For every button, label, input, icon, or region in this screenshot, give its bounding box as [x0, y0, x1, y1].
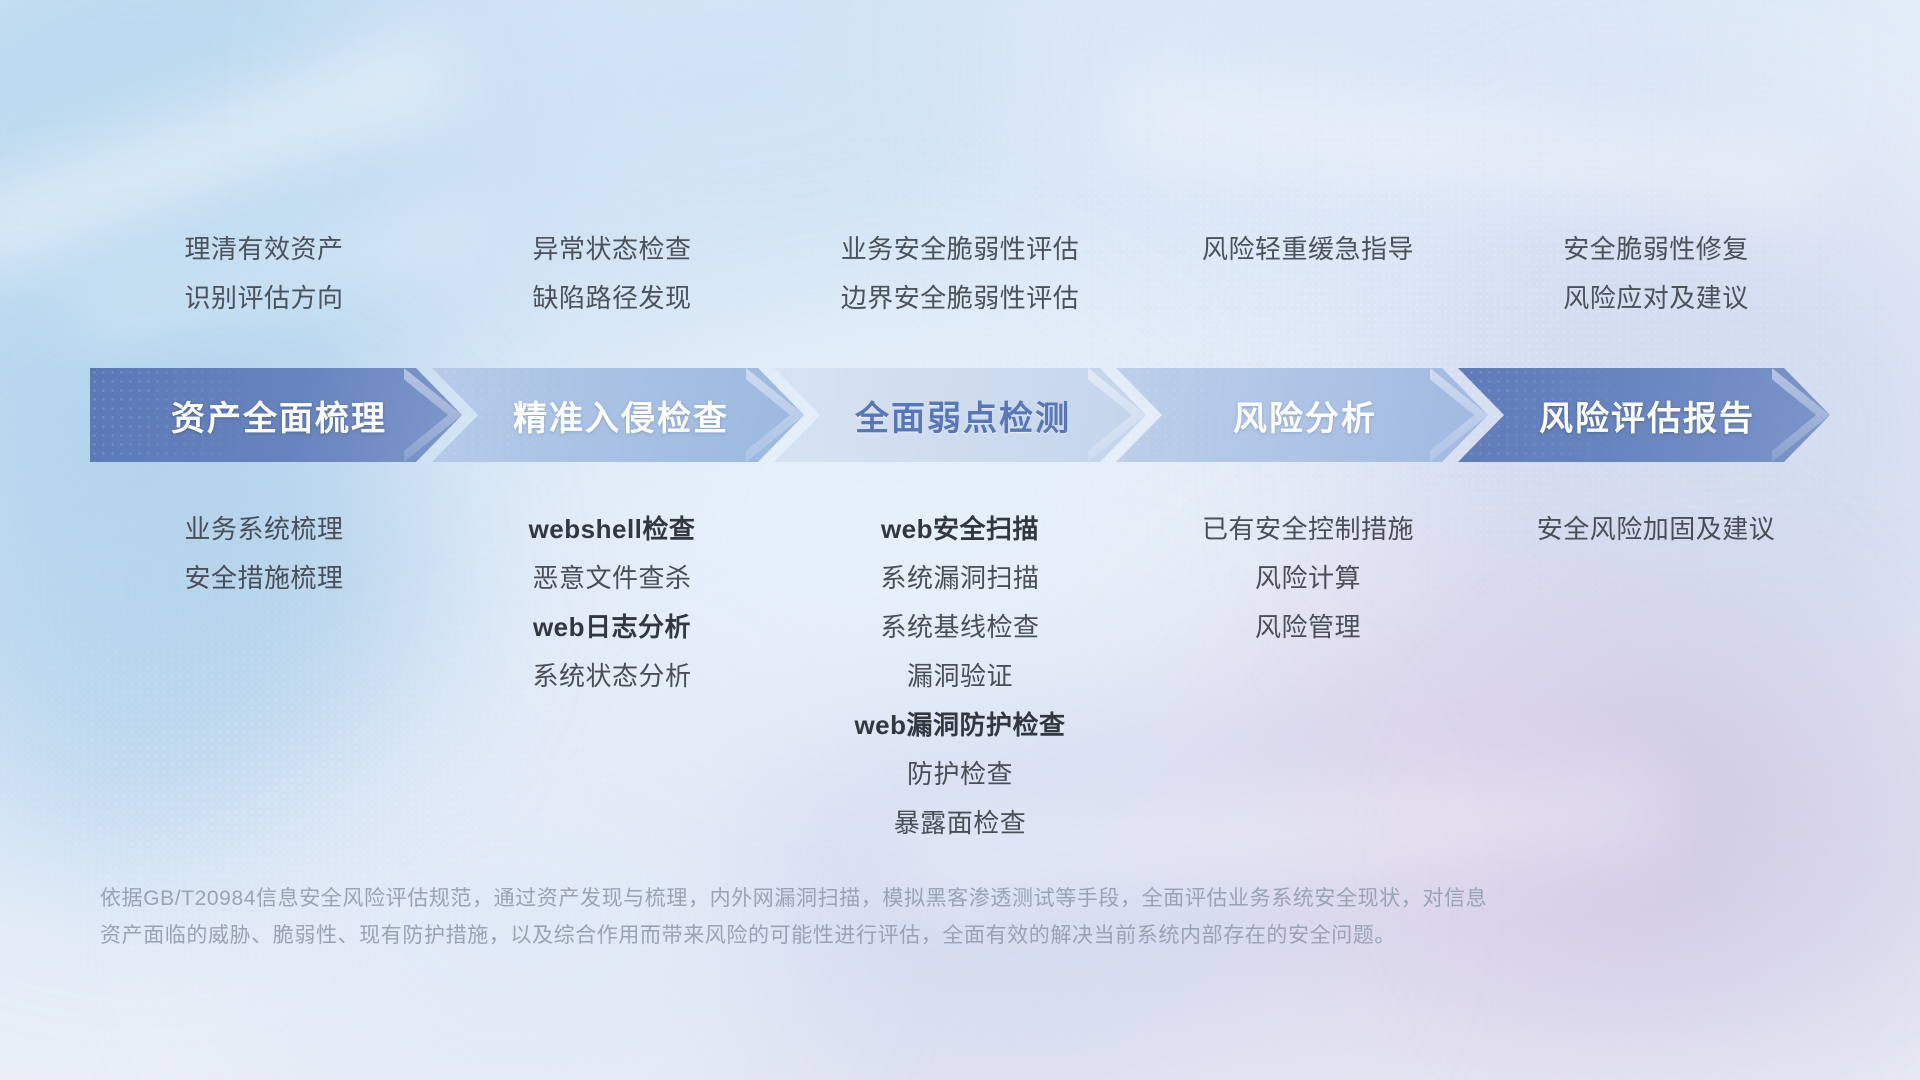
list-item: 系统漏洞扫描: [880, 554, 1039, 603]
list-item: 缺陷路径发现: [532, 274, 691, 323]
list-item: web安全扫描: [881, 505, 1039, 554]
description-line-1: 依据GB/T20984信息安全风险评估规范，通过资产发现与梳理，内外网漏洞扫描，…: [100, 880, 1740, 917]
stage-label: 风险评估报告: [1533, 391, 1755, 440]
list-item: 安全脆弱性修复: [1563, 225, 1749, 274]
list-item: web漏洞防护检查: [854, 701, 1065, 750]
bottom-activity-lists: 业务系统梳理 安全措施梳理 webshell检查 恶意文件查杀 web日志分析 …: [90, 505, 1830, 848]
list-item: 恶意文件查杀: [532, 554, 691, 603]
bottom-list-stage-5: 安全风险加固及建议: [1482, 505, 1830, 848]
top-list-stage-3: 业务安全脆弱性评估 边界安全脆弱性评估: [786, 225, 1134, 323]
list-item: 边界安全脆弱性评估: [841, 274, 1080, 323]
top-outcome-lists: 理清有效资产 识别评估方向 异常状态检查 缺陷路径发现 业务安全脆弱性评估 边界…: [90, 225, 1830, 323]
list-item: 识别评估方向: [184, 274, 343, 323]
process-stage-arrow-3[interactable]: 全面弱点检测: [774, 368, 1146, 462]
list-item: 风险应对及建议: [1563, 274, 1749, 323]
list-item: 安全风险加固及建议: [1537, 505, 1776, 554]
top-list-stage-2: 异常状态检查 缺陷路径发现: [438, 225, 786, 323]
bottom-list-stage-3: web安全扫描 系统漏洞扫描 系统基线检查 漏洞验证 web漏洞防护检查 防护检…: [786, 505, 1134, 848]
process-stage-arrow-1[interactable]: 资产全面梳理: [90, 368, 462, 462]
top-list-stage-1: 理清有效资产 识别评估方向: [90, 225, 438, 323]
top-list-stage-4: 风险轻重缓急指导: [1134, 225, 1482, 323]
list-item: 业务系统梳理: [184, 505, 343, 554]
bottom-list-stage-1: 业务系统梳理 安全措施梳理: [90, 505, 438, 848]
list-item: webshell检查: [529, 505, 696, 554]
process-stage-arrow-4[interactable]: 风险分析: [1116, 368, 1488, 462]
list-item: 业务安全脆弱性评估: [841, 225, 1080, 274]
list-item: 系统状态分析: [532, 652, 691, 701]
list-item: 风险轻重缓急指导: [1202, 225, 1414, 274]
list-item: web日志分析: [533, 603, 691, 652]
bottom-list-stage-2: webshell检查 恶意文件查杀 web日志分析 系统状态分析: [438, 505, 786, 848]
description-paragraph: 依据GB/T20984信息安全风险评估规范，通过资产发现与梳理，内外网漏洞扫描，…: [100, 880, 1740, 954]
stage-label: 精准入侵检查: [507, 391, 729, 440]
description-line-2: 资产面临的威胁、脆弱性、现有防护措施，以及综合作用而带来风险的可能性进行评估，全…: [100, 917, 1740, 954]
process-stage-arrow-5[interactable]: 风险评估报告: [1458, 368, 1830, 462]
list-item: 漏洞验证: [907, 652, 1013, 701]
list-item: 已有安全控制措施: [1202, 505, 1414, 554]
bottom-list-stage-4: 已有安全控制措施 风险计算 风险管理: [1134, 505, 1482, 848]
list-item: 暴露面检查: [894, 799, 1027, 848]
list-item: 风险计算: [1255, 554, 1361, 603]
process-arrow-band: 资产全面梳理 精准入侵检查 全面弱点检测 风险分析 风险评估报告: [90, 368, 1830, 462]
list-item: 风险管理: [1255, 603, 1361, 652]
stage-label: 全面弱点检测: [849, 391, 1071, 440]
list-item: 安全措施梳理: [184, 554, 343, 603]
list-item: 理清有效资产: [184, 225, 343, 274]
top-list-stage-5: 安全脆弱性修复 风险应对及建议: [1482, 225, 1830, 323]
stage-label: 资产全面梳理: [165, 391, 387, 440]
list-item: 异常状态检查: [532, 225, 691, 274]
list-item: 防护检查: [907, 750, 1013, 799]
process-stage-arrow-2[interactable]: 精准入侵检查: [432, 368, 804, 462]
stage-label: 风险分析: [1227, 391, 1377, 440]
list-item: 系统基线检查: [880, 603, 1039, 652]
